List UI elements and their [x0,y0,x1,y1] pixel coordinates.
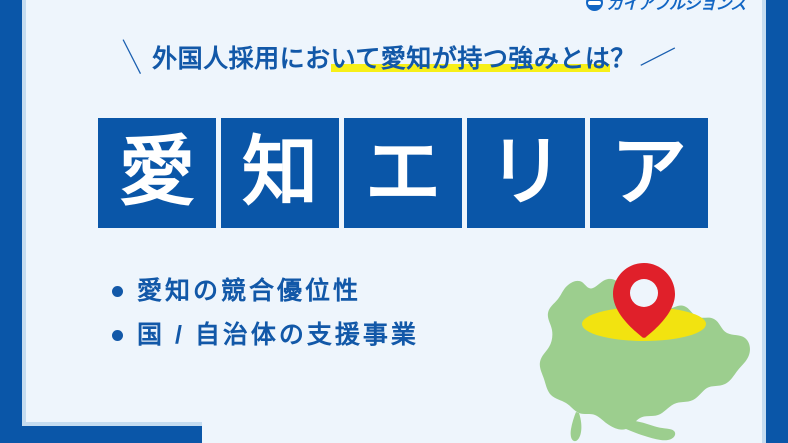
title-box-5: ア [590,118,708,228]
bullet-list: 愛知の競合優位性 国 / 自治体の支援事業 [112,278,419,349]
bullet-label: 国 / 自治体の支援事業 [137,322,419,350]
headline-highlight: いて愛知が持つ強みとは [331,45,611,73]
brand-logo-text: ガイアブルジョンズ [607,0,746,14]
title-box-1: 愛 [98,118,216,228]
headline: ＼ 外国人採用において愛知が持つ強みとは？ ／ [0,44,788,74]
bullet-label: 愛知の競合優位性 [137,278,361,306]
headline-text: 外国人採用において愛知が持つ強みとは？ [152,45,636,74]
title-box-4: リ [467,118,585,228]
aichi-prefecture-map [524,252,770,443]
title-box-3: エ [344,118,462,228]
map-peninsula-left [571,412,582,441]
bullet-dot-icon [112,330,123,341]
map-peninsula-bottom [626,421,675,440]
title-boxes: 愛 知 エ リ ア [98,118,708,228]
slide-canvas: ガイアブルジョンズ ＼ 外国人採用において愛知が持つ強みとは？ ／ 愛 知 エ … [0,0,788,443]
bullet-dot-icon [112,286,123,297]
title-box-2: 知 [221,118,339,228]
frame-bar-bottom [0,426,202,443]
map-svg [524,252,770,443]
slash-right-icon: ／ [638,40,676,78]
frame-bar-bottom-inner [22,422,202,426]
brand-logo[interactable]: ガイアブルジョンズ [586,0,746,13]
circle-logo-icon [586,0,603,11]
headline-prefix: 外国人採用にお [152,45,331,73]
headline-suffix: ？ [610,45,636,73]
list-item: 国 / 自治体の支援事業 [112,322,419,350]
slash-left-icon: ＼ [112,40,150,78]
list-item: 愛知の競合優位性 [112,278,419,306]
